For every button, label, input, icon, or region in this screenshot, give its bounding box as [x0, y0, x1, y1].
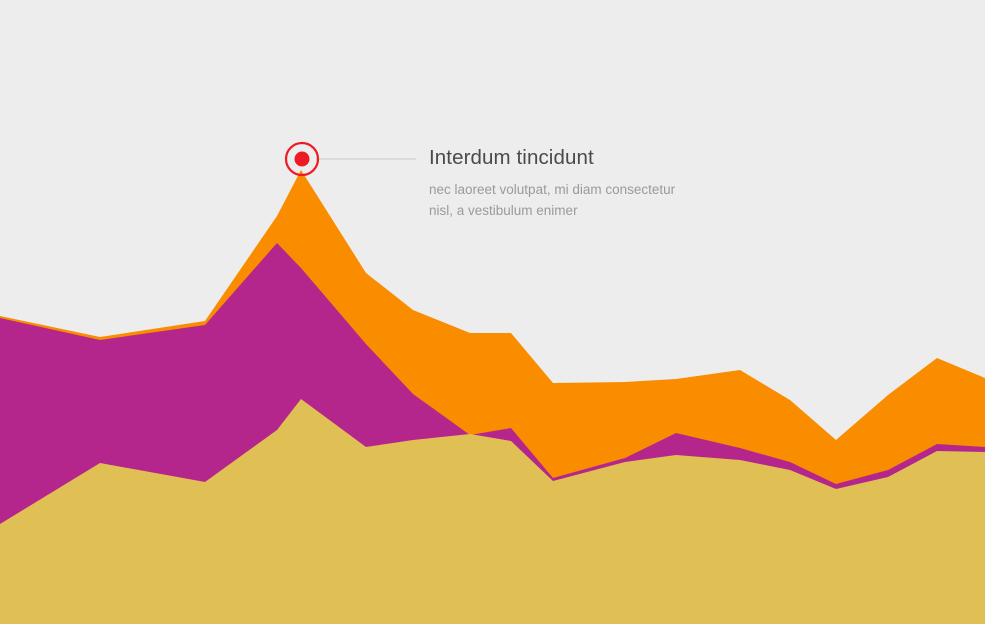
annotation-description: nec laoreet volutpat, mi diam consectetu…: [429, 179, 759, 223]
data-point-marker-dot[interactable]: [295, 152, 310, 167]
annotation-title: Interdum tincidunt: [429, 146, 759, 170]
annotation-description-line-1: nec laoreet volutpat, mi diam consectetu…: [429, 179, 759, 201]
annotation-description-line-2: nisl, a vestibulum enimer: [429, 200, 759, 222]
chart-canvas: Interdum tincidunt nec laoreet volutpat,…: [0, 0, 985, 624]
annotation-callout: Interdum tincidunt nec laoreet volutpat,…: [429, 146, 759, 222]
stacked-area-chart: [0, 0, 985, 624]
